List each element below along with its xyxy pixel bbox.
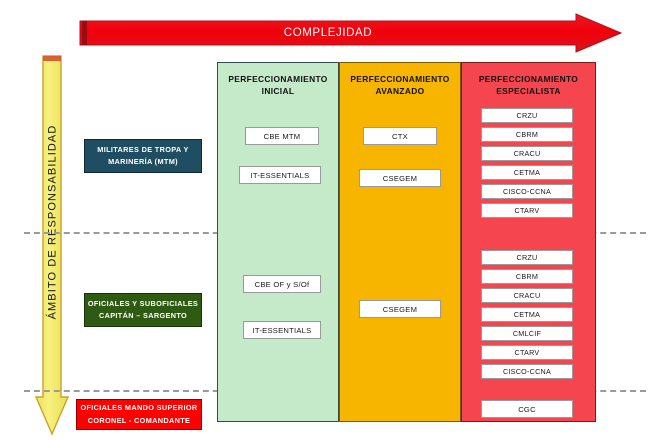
category-mtm-line1: MILITARES DE TROPA Y <box>97 144 188 156</box>
diagram-canvas: COMPLEJIDAD ÁMBITO DE RESPONSABILIDAD PE… <box>0 0 650 440</box>
course-box[interactable]: CSEGEM <box>359 300 441 318</box>
column-header-especialista-line1: PERFECCIONAMIENTO <box>462 73 595 85</box>
column-header-inicial: PERFECCIONAMIENTO INICIAL <box>218 63 338 97</box>
category-mando-line1: OFICIALES MANDO SUPERIOR <box>80 402 197 414</box>
category-militares-tropa-marineria: MILITARES DE TROPA Y MARINERÍA (MTM) <box>84 139 202 173</box>
course-box[interactable]: CTX <box>363 127 437 145</box>
course-box[interactable]: CBRM <box>481 127 573 142</box>
course-box[interactable]: CRACU <box>481 288 573 303</box>
course-box[interactable]: CMLCIF <box>481 326 573 341</box>
course-box[interactable]: IT-ESSENTIALS <box>239 166 321 184</box>
course-box[interactable]: CRZU <box>481 108 573 123</box>
category-mtm-line2: MARINERÍA (MTM) <box>108 156 178 168</box>
course-box[interactable]: CTARV <box>481 345 573 360</box>
course-box[interactable]: CRACU <box>481 146 573 161</box>
ambito-responsabilidad-arrow <box>34 52 70 437</box>
column-header-avanzado-line1: PERFECCIONAMIENTO <box>340 73 460 85</box>
course-box[interactable]: CTARV <box>481 203 573 218</box>
column-perfeccionamiento-inicial: PERFECCIONAMIENTO INICIAL <box>217 62 339 422</box>
course-box[interactable]: IT-ESSENTIALS <box>243 321 321 339</box>
category-mando-line2: CORONEL - COMANDANTE <box>88 415 191 427</box>
column-header-avanzado-line2: AVANZADO <box>340 85 460 97</box>
category-oficiales-suboficiales: OFICIALES Y SUBOFICIALES CAPITÁN – SARGE… <box>84 293 202 327</box>
course-box[interactable]: CSEGEM <box>359 169 441 187</box>
course-box[interactable]: CRZU <box>481 250 573 265</box>
category-ofsu-line1: OFICIALES Y SUBOFICIALES <box>88 298 198 310</box>
category-oficiales-mando-superior: OFICIALES MANDO SUPERIOR CORONEL - COMAN… <box>76 399 202 430</box>
course-box[interactable]: CBE OF y S/Of <box>243 275 321 293</box>
complejidad-arrow: COMPLEJIDAD <box>78 13 623 53</box>
course-box[interactable]: CISCO-CCNA <box>481 364 573 379</box>
column-header-especialista-line2: ESPECIALISTA <box>462 85 595 97</box>
course-box[interactable]: CBE MTM <box>245 127 319 145</box>
course-box[interactable]: CETMA <box>481 307 573 322</box>
course-box[interactable]: CISCO-CCNA <box>481 184 573 199</box>
column-header-especialista: PERFECCIONAMIENTO ESPECIALISTA <box>462 63 595 97</box>
column-perfeccionamiento-avanzado: PERFECCIONAMIENTO AVANZADO <box>339 62 461 422</box>
column-header-avanzado: PERFECCIONAMIENTO AVANZADO <box>340 63 460 97</box>
course-box[interactable]: CBRM <box>481 269 573 284</box>
column-header-inicial-line1: PERFECCIONAMIENTO <box>218 73 338 85</box>
course-box[interactable]: CETMA <box>481 165 573 180</box>
category-ofsu-line2: CAPITÁN – SARGENTO <box>99 310 187 322</box>
course-box[interactable]: CGC <box>481 400 573 418</box>
column-header-inicial-line2: INICIAL <box>218 85 338 97</box>
